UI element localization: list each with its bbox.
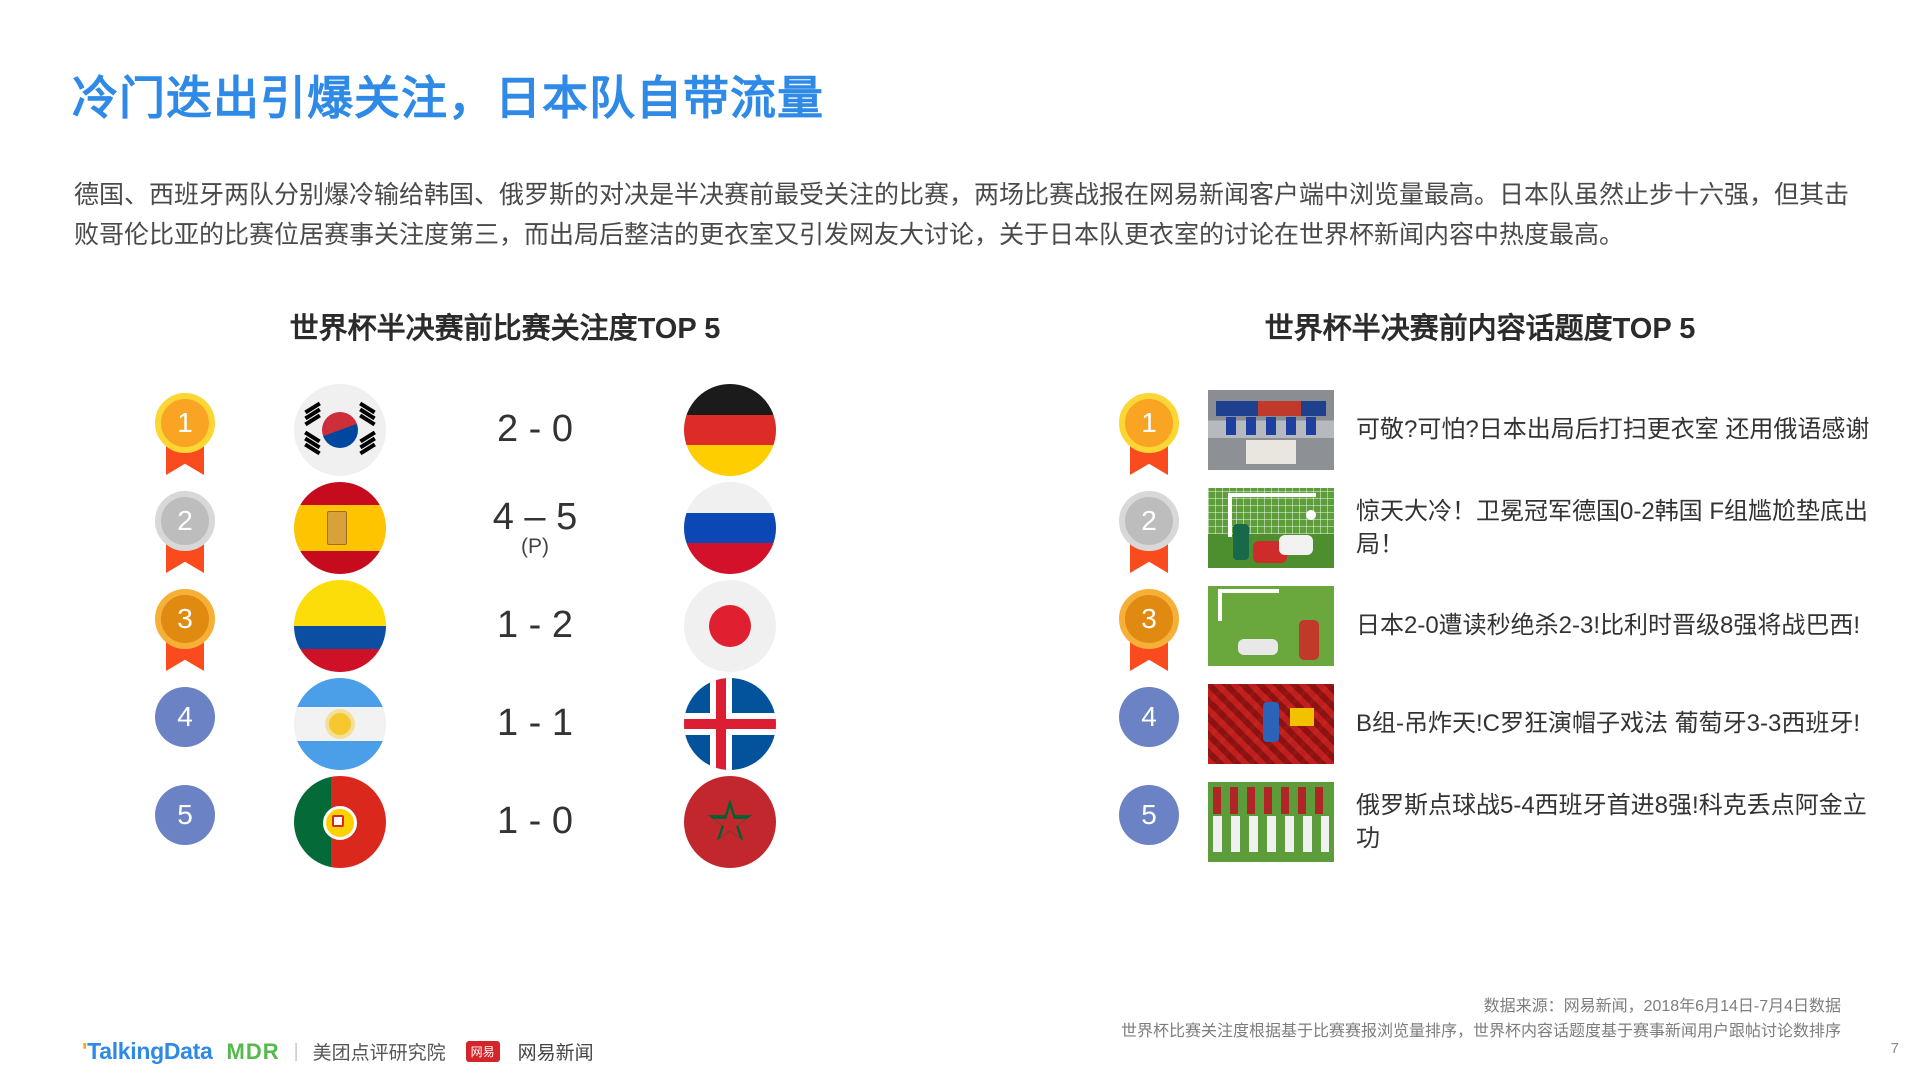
content-topic-panel: 世界杯半决赛前内容话题度TOP 5 1 可敬?可怕?日本出局后打扫更衣室 还用俄… xyxy=(1090,305,1870,871)
away-team-cell xyxy=(650,776,810,868)
table-row: 1 2 - 0 xyxy=(110,381,900,479)
page-title: 冷门迭出引爆关注，日本队自带流量 xyxy=(72,62,824,128)
away-team-cell xyxy=(650,482,810,574)
news-headline[interactable]: B组-吊炸天!C罗狂演帽子戏法 葡萄牙3-3西班牙! xyxy=(1356,707,1870,740)
score-cell: 2 - 0 xyxy=(420,410,650,450)
rank-number: 3 xyxy=(1119,589,1179,649)
rank-number: 5 xyxy=(155,785,215,845)
taeguk-symbol xyxy=(322,412,358,448)
away-team-cell xyxy=(650,678,810,770)
source-line-1: 数据来源：网易新闻，2018年6月14日-7月4日数据 xyxy=(1121,995,1841,1020)
talkingdata-text: TalkingData xyxy=(87,1038,212,1064)
rank-cell: 5 xyxy=(110,777,260,867)
news-headline[interactable]: 日本2-0遭读秒绝杀2-3!比利时晋级8强将战巴西! xyxy=(1356,609,1870,642)
news-thumbnail-celebration xyxy=(1208,782,1334,862)
home-team-cell xyxy=(260,580,420,672)
score-value: 2 - 0 xyxy=(497,408,573,450)
list-item[interactable]: 1 可敬?可怕?日本出局后打扫更衣室 还用俄语感谢 xyxy=(1090,381,1870,479)
meituan-research-logo: 美团点评研究院 xyxy=(313,1038,446,1065)
netease-news-logo: 网易新闻 xyxy=(518,1038,594,1065)
table-row: 3 1 - 2 xyxy=(110,577,900,675)
table-row: 4 1 - 1 xyxy=(110,675,900,773)
score-value: 1 - 2 xyxy=(497,604,573,646)
intro-paragraph: 德国、西班牙两队分别爆冷输给韩国、俄罗斯的对决是半决赛前最受关注的比赛，两场比赛… xyxy=(74,176,1849,255)
rank-number: 3 xyxy=(155,589,215,649)
flag-icon-iceland xyxy=(684,678,776,770)
rank-number: 1 xyxy=(155,393,215,453)
flag-icon-portugal xyxy=(294,776,386,868)
rank-cell: 4 xyxy=(110,679,260,769)
rank-badge-1: 1 xyxy=(1112,385,1186,475)
rank-cell: 1 xyxy=(110,385,260,475)
flag-icon-morocco xyxy=(684,776,776,868)
rank-cell: 3 xyxy=(110,581,260,671)
rank-cell: 2 xyxy=(110,483,260,573)
mdr-logo: MDR xyxy=(227,1039,280,1065)
score-cell: 1 - 1 xyxy=(420,704,650,744)
list-item[interactable]: 4 B组-吊炸天!C罗狂演帽子戏法 葡萄牙3-3西班牙! xyxy=(1090,675,1870,773)
talkingdata-logo: 'TalkingData xyxy=(82,1038,213,1065)
rank-badge-5: 5 xyxy=(1112,777,1186,867)
flag-icon-spain xyxy=(294,482,386,574)
rank-number: 4 xyxy=(1119,687,1179,747)
rank-badge-4: 4 xyxy=(1112,679,1186,769)
argentina-sun xyxy=(329,713,351,735)
netease-badge-icon: 网易 xyxy=(466,1041,500,1062)
match-attention-panel: 世界杯半决赛前比赛关注度TOP 5 1 xyxy=(110,305,900,871)
portugal-arms xyxy=(323,806,357,840)
list-item[interactable]: 5 俄罗斯点球战5-4西班牙首进8强!科克丢点阿金立功 xyxy=(1090,773,1870,871)
rank-badge-2: 2 xyxy=(148,483,222,573)
home-team-cell xyxy=(260,384,420,476)
news-thumbnail-goal-scene xyxy=(1208,488,1334,568)
japan-sun xyxy=(709,605,751,647)
home-team-cell xyxy=(260,776,420,868)
source-note: 数据来源：网易新闻，2018年6月14日-7月4日数据 世界杯比赛关注度根据基于… xyxy=(1121,995,1841,1045)
rank-cell: 3 xyxy=(1090,581,1208,671)
rank-badge-3: 3 xyxy=(1112,581,1186,671)
table-row: 2 4 – 5 (P) xyxy=(110,479,900,577)
page-number: 7 xyxy=(1891,1040,1899,1057)
home-team-cell xyxy=(260,482,420,574)
rank-badge-5: 5 xyxy=(148,777,222,867)
rank-badge-4: 4 xyxy=(148,679,222,769)
rank-number: 5 xyxy=(1119,785,1179,845)
rank-number: 1 xyxy=(1119,393,1179,453)
list-item[interactable]: 2 惊天大冷！卫冕冠军德国0-2韩国 F组尴尬垫底出局！ xyxy=(1090,479,1870,577)
news-headline[interactable]: 可敬?可怕?日本出局后打扫更衣室 还用俄语感谢 xyxy=(1356,413,1870,446)
penalty-note: (P) xyxy=(420,536,650,558)
score-value: 1 - 1 xyxy=(497,702,573,744)
news-thumbnail-locker-room xyxy=(1208,390,1334,470)
footer-logos: 'TalkingData MDR | 美团点评研究院 网易 网易新闻 xyxy=(82,1038,594,1065)
left-panel-title: 世界杯半决赛前比赛关注度TOP 5 xyxy=(110,305,900,347)
rank-number: 4 xyxy=(155,687,215,747)
news-headline[interactable]: 惊天大冷！卫冕冠军德国0-2韩国 F组尴尬垫底出局！ xyxy=(1356,495,1870,561)
list-item[interactable]: 3 日本2-0遭读秒绝杀2-3!比利时晋级8强将战巴西! xyxy=(1090,577,1870,675)
news-thumbnail-pitch-scene xyxy=(1208,586,1334,666)
flag-icon-korea xyxy=(294,384,386,476)
spain-crest xyxy=(327,511,347,545)
score-value: 4 – 5 xyxy=(493,496,578,538)
rank-badge-3: 3 xyxy=(148,581,222,671)
score-cell: 1 - 2 xyxy=(420,606,650,646)
flag-icon-japan xyxy=(684,580,776,672)
score-value: 1 - 0 xyxy=(497,800,573,842)
rank-number: 2 xyxy=(1119,491,1179,551)
rank-cell: 2 xyxy=(1090,483,1208,573)
flag-icon-argentina xyxy=(294,678,386,770)
rank-badge-2: 2 xyxy=(1112,483,1186,573)
source-line-2: 世界杯比赛关注度根据基于比赛赛报浏览量排序，世界杯内容话题度基于赛事新闻用户跟帖… xyxy=(1121,1020,1841,1045)
flag-icon-russia xyxy=(684,482,776,574)
score-cell: 4 – 5 (P) xyxy=(420,498,650,558)
news-thumbnail-crowd xyxy=(1208,684,1334,764)
score-cell: 1 - 0 xyxy=(420,802,650,842)
rank-cell: 1 xyxy=(1090,385,1208,475)
logo-separator: | xyxy=(294,1041,299,1063)
rank-cell: 5 xyxy=(1090,777,1208,867)
home-team-cell xyxy=(260,678,420,770)
flag-icon-germany xyxy=(684,384,776,476)
rank-badge-1: 1 xyxy=(148,385,222,475)
away-team-cell xyxy=(650,384,810,476)
flag-icon-colombia xyxy=(294,580,386,672)
rank-cell: 4 xyxy=(1090,679,1208,769)
away-team-cell xyxy=(650,580,810,672)
news-headline[interactable]: 俄罗斯点球战5-4西班牙首进8强!科克丢点阿金立功 xyxy=(1356,789,1870,855)
table-row: 5 1 - 0 xyxy=(110,773,900,871)
right-panel-title: 世界杯半决赛前内容话题度TOP 5 xyxy=(1090,305,1870,347)
rank-number: 2 xyxy=(155,491,215,551)
